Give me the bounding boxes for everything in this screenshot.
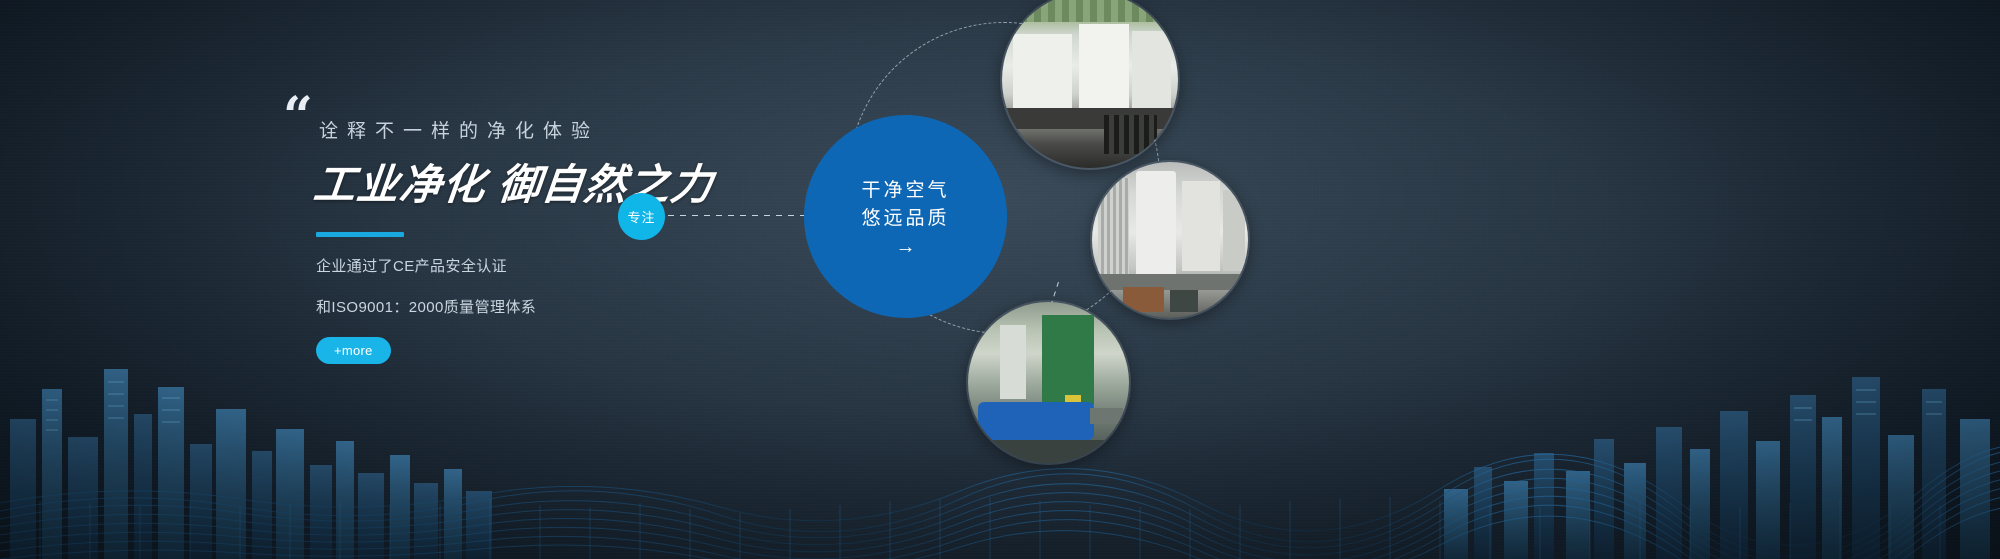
photo-3-content	[968, 302, 1129, 463]
hero-body-line-1: 企业通过了CE产品安全认证	[316, 255, 763, 278]
photo-2-layer-filter-bank	[1098, 178, 1129, 275]
circle-line-1: 干净空气	[861, 177, 949, 205]
photo-1-layer-tank-left	[1013, 34, 1073, 111]
photo-1-layer-roof	[1020, 0, 1161, 22]
photo-1-layer-duct	[1104, 115, 1157, 154]
photo-factory-interior-tanks[interactable]	[1000, 0, 1180, 170]
main-blue-circle[interactable]: 干净空气 悠远品质 →	[804, 115, 1007, 318]
dashed-connector-line	[668, 215, 806, 216]
hero-subtitle: 诠释不一样的净化体验	[319, 96, 763, 143]
focus-badge-label: 专注	[627, 207, 655, 226]
photo-pipe-valve-machinery[interactable]	[966, 300, 1131, 465]
photo-2-layer-silo-left	[1136, 171, 1177, 274]
photo-2-layer-crate	[1123, 287, 1164, 312]
circle-line-2: 悠远品质	[861, 205, 949, 233]
photo-3-layer-green-panel	[1042, 315, 1094, 405]
hero-headline: 工业净化 御自然之力	[311, 151, 766, 212]
more-button[interactable]: +more	[316, 337, 391, 364]
photo-2-layer-floor	[1092, 274, 1248, 290]
photo-3-layer-white-column	[1000, 325, 1026, 399]
photo-1-layer-tank-mid	[1079, 24, 1128, 112]
focus-badge[interactable]: 专注	[618, 193, 665, 240]
hero-text-block: “ 诠释不一样的净化体验 工业净化 御自然之力 企业通过了CE产品安全认证 和I…	[283, 96, 763, 364]
photo-1-layer-tank-right	[1132, 31, 1171, 112]
photo-3-layer-blue-pipe	[978, 402, 1094, 441]
photo-3-layer-floor	[968, 440, 1129, 463]
hero-body-line-2: 和ISO9001：2000质量管理体系	[316, 296, 763, 319]
photo-3-layer-flange	[1090, 408, 1122, 424]
photo-2-content	[1092, 162, 1248, 318]
photo-2-layer-machine	[1170, 290, 1198, 312]
arrow-right-icon: →	[896, 237, 916, 257]
photo-2-layer-silo-right	[1223, 190, 1245, 271]
photo-1-content	[1002, 0, 1178, 168]
quote-mark-icon: “	[283, 96, 311, 138]
photo-industrial-silos[interactable]	[1090, 160, 1250, 320]
accent-divider	[316, 232, 404, 237]
hero-banner: “ 诠释不一样的净化体验 工业净化 御自然之力 企业通过了CE产品安全认证 和I…	[0, 0, 2000, 559]
photo-2-layer-silo-mid	[1182, 181, 1219, 271]
